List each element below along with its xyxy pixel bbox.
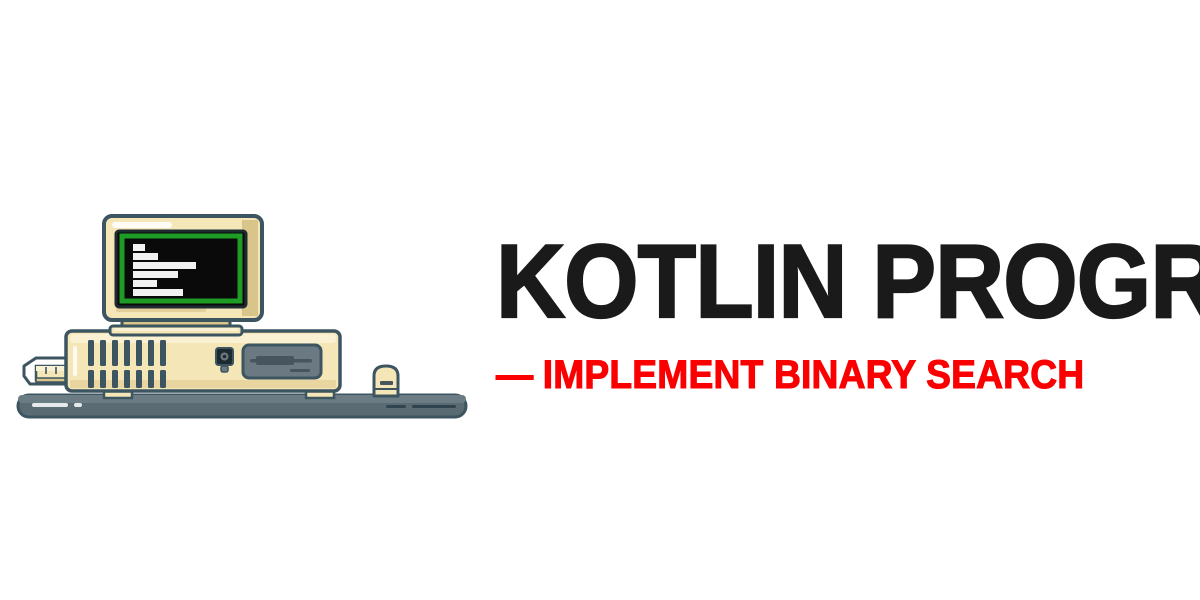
computer-tower (66, 331, 340, 398)
poster-canvas: KOTLIN PROGRAM —IMPLEMENT BINARY SEARCH (0, 0, 1200, 600)
page-title: KOTLIN PROGRAM (496, 232, 1122, 333)
subtitle-text: IMPLEMENT BINARY SEARCH (543, 353, 1085, 397)
retro-computer-illustration (0, 190, 480, 440)
page-subtitle: —IMPLEMENT BINARY SEARCH (496, 333, 1128, 395)
mouse (374, 366, 398, 396)
em-dash: — (496, 355, 533, 395)
poster-text-block: KOTLIN PROGRAM —IMPLEMENT BINARY SEARCH (496, 232, 1176, 395)
crt-monitor (104, 216, 262, 320)
desk-surface (18, 395, 466, 417)
floppy-drive (243, 345, 321, 378)
